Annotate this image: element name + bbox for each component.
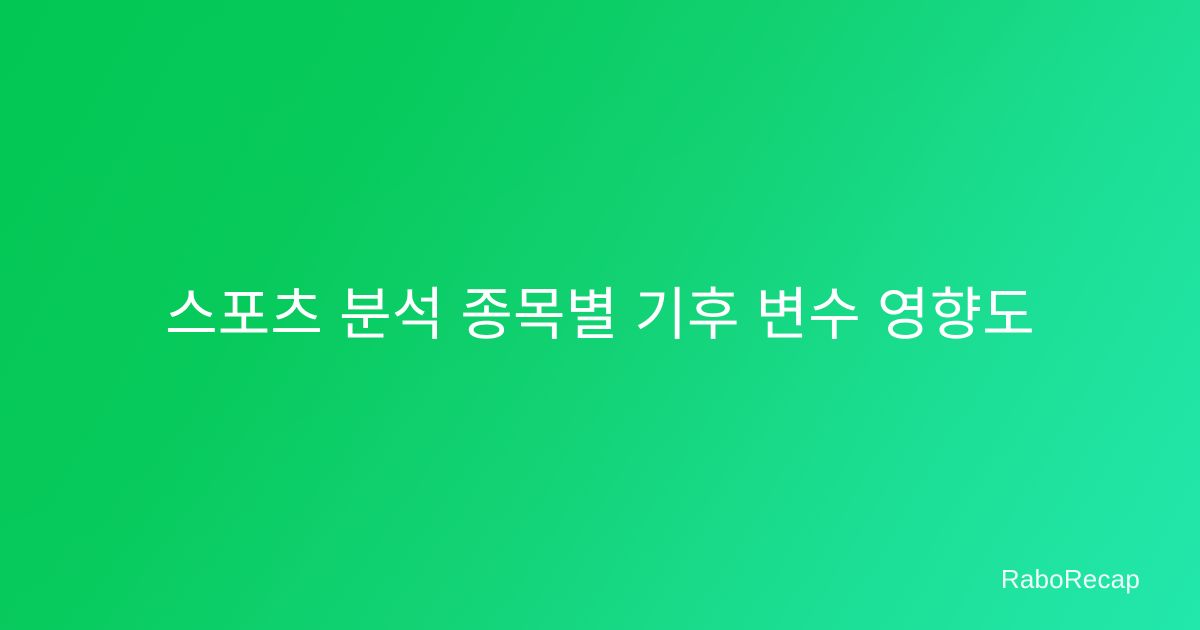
title-container: 스포츠 분석 종목별 기후 변수 영향도 (0, 0, 1200, 630)
page-title: 스포츠 분석 종목별 기후 변수 영향도 (165, 279, 1035, 352)
brand-watermark: RaboRecap (1001, 566, 1140, 592)
social-card: 스포츠 분석 종목별 기후 변수 영향도 RaboRecap (0, 0, 1200, 630)
